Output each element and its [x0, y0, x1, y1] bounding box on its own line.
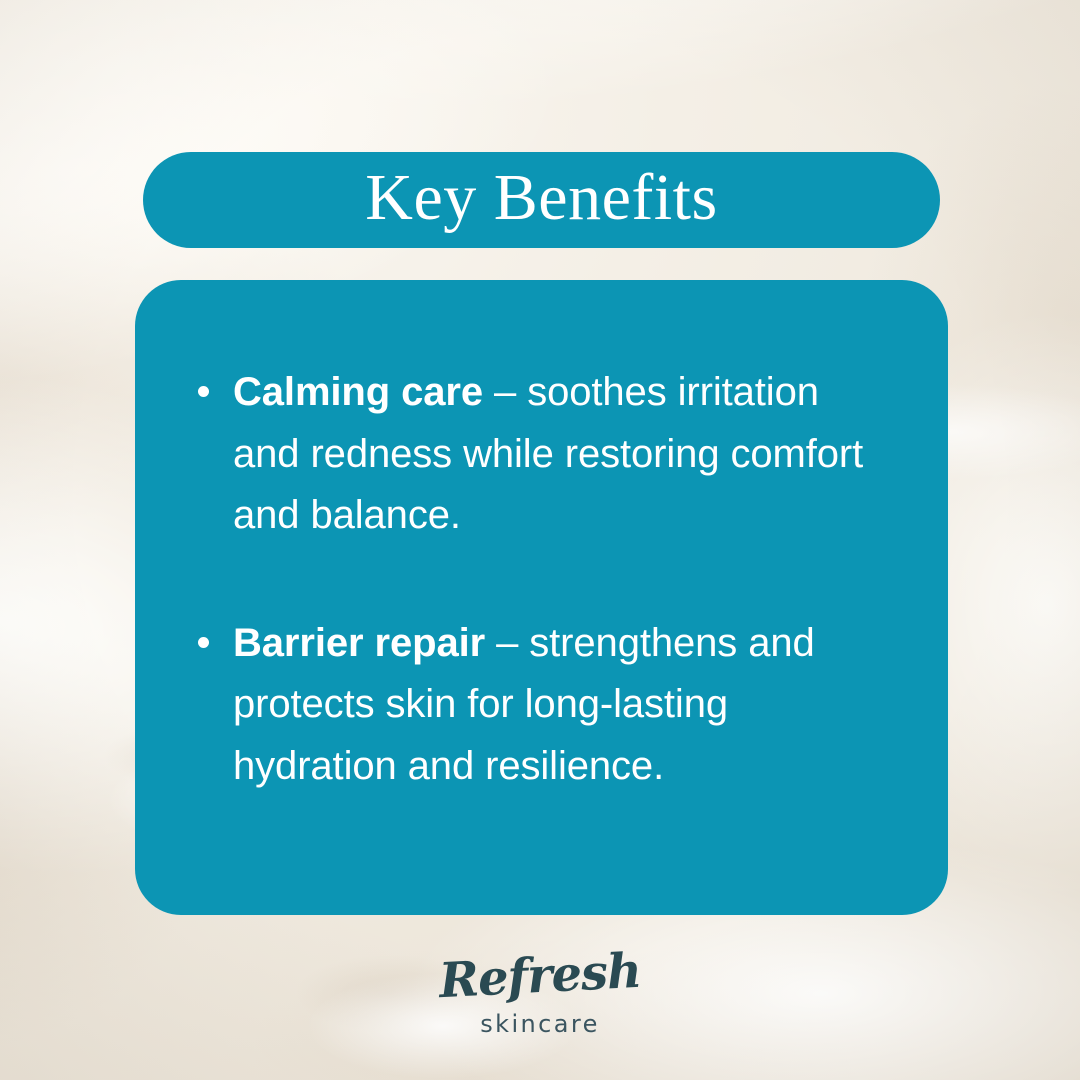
social-post-canvas: Key Benefits Calming care – soothes irri… [0, 0, 1080, 1080]
bullet-dot-icon [198, 637, 209, 648]
brand-logo: Refresh skincare [0, 952, 1080, 1036]
benefit-separator: – [485, 621, 529, 665]
benefits-panel: Calming care – soothes irritation and re… [135, 280, 948, 915]
list-item: Barrier repair – strengthens and protect… [198, 613, 892, 798]
title-pill: Key Benefits [143, 152, 940, 248]
benefits-list: Calming care – soothes irritation and re… [198, 362, 892, 798]
benefit-lead-label: Barrier repair [233, 621, 485, 665]
bullet-dot-icon [198, 386, 209, 397]
benefit-separator: – [483, 370, 527, 414]
benefit-lead-label: Calming care [233, 370, 483, 414]
page-title: Key Benefits [365, 165, 717, 231]
list-item: Calming care – soothes irritation and re… [198, 362, 892, 547]
